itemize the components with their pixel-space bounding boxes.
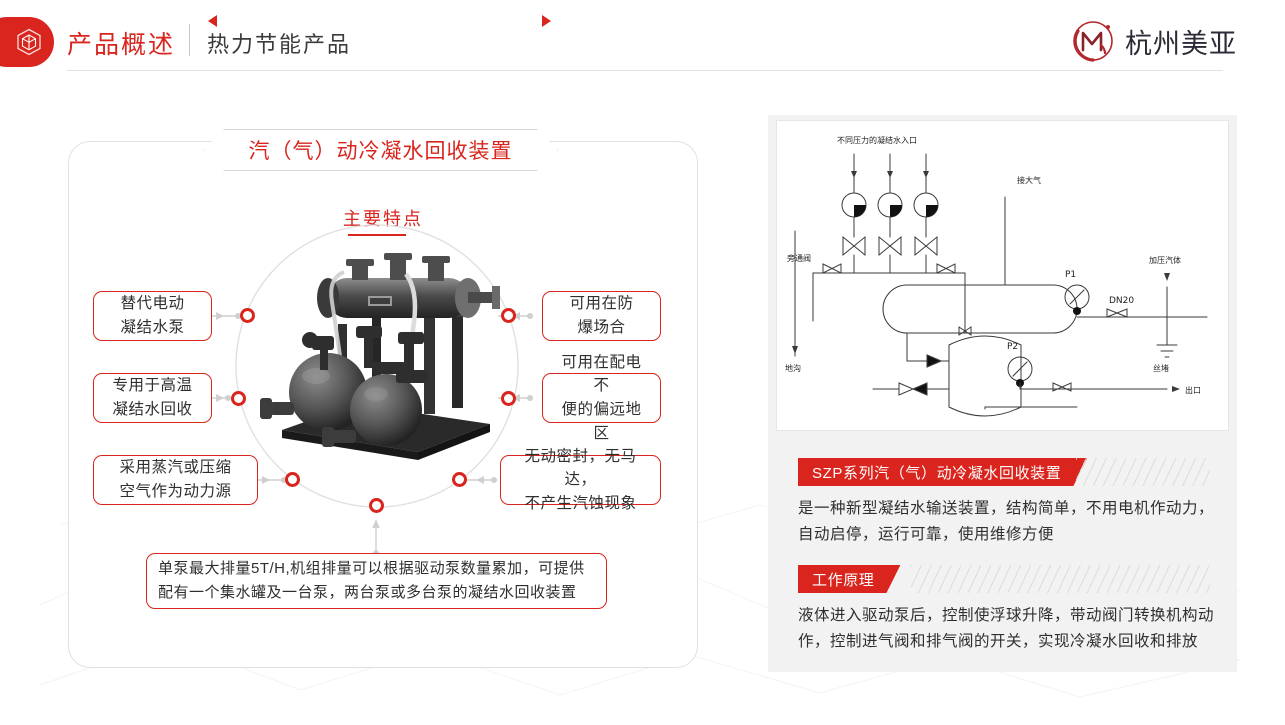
capacity-note-line2: 配有一个集水罐及一台泵，两台泵或多台泵的凝结水回收装置 [158,581,577,605]
section-principle-tag: 工作原理 [798,565,900,593]
features-heading: 主要特点 [0,205,766,231]
orbit-dot-5 [452,472,467,487]
page-header: 产品概述 热力节能产品 杭州美亚 [0,0,1285,84]
callout-remote-no-power[interactable]: 可用在配电不 便的偏远地区 [542,373,661,423]
callout-text: 可用在配电不 便的偏远地区 [554,351,649,445]
ribbon-right-arrow-icon [542,15,551,27]
callout-text: 无动密封，无马达， 不产生汽蚀现象 [512,445,649,516]
meiya-m-circle-logo [1070,18,1116,64]
callout-no-seal-no-motor[interactable]: 无动密封，无马达， 不产生汽蚀现象 [500,455,661,505]
label-outlet: 出口 [1185,385,1201,395]
section-principle-tag-row: 工作原理 [798,565,1210,593]
section-intro-line1: 是一种新型凝结水输送装置，结构简单，不用电机作动力， [798,496,1218,523]
callout-text: 专用于高温 凝结水回收 [112,374,192,421]
page-subtitle: 热力节能产品 [207,27,351,59]
logo-text: 杭州美亚 [1125,22,1237,61]
header-badge [0,17,54,67]
label-pressurized-gas: 加压汽体 [1149,255,1181,265]
label-bypass-valve: 旁通阀 [787,253,811,263]
callout-capacity-note[interactable]: 单泵最大排量5T/H,机组排量可以根据驱动泵数量累加，可提供 配有一个集水罐及一… [146,553,607,609]
orbit-dot-4 [501,308,516,323]
header-divider [189,24,190,56]
features-heading-underline [348,234,406,236]
orbit-dot-2 [231,391,246,406]
ribbon-title: 汽（气）动冷凝水回收装置 [249,135,513,165]
callout-text: 可用在防 爆场合 [569,292,633,339]
callout-explosion-proof[interactable]: 可用在防 爆场合 [542,291,661,341]
cube-hexagon-icon [16,28,42,56]
label-inlet: 不同压力的凝结水入口 [837,135,917,145]
label-to-atmosphere: 接大气 [1017,175,1041,185]
label-p1: P1 [1065,270,1076,280]
orbit-dot-6 [501,391,516,406]
orbit-dot-1 [240,308,255,323]
header-rule [67,70,1223,71]
label-plug: 丝堵 [1153,363,1169,373]
label-p2: P2 [1007,342,1018,352]
orbit-dot-3 [285,472,300,487]
callout-replace-electric-pump[interactable]: 替代电动 凝结水泵 [93,291,212,341]
ribbon-left-arrow-icon [208,15,217,27]
callout-steam-or-air-power[interactable]: 采用蒸汽或压缩 空气作为动力源 [93,455,258,505]
callout-text: 替代电动 凝结水泵 [120,292,184,339]
callout-text: 采用蒸汽或压缩 空气作为动力源 [119,456,231,503]
capacity-note-line1: 单泵最大排量5T/H,机组排量可以根据驱动泵数量累加，可提供 [158,557,585,581]
section-intro-line2: 自动启停，运行可靠，使用维修方便 [798,522,1218,549]
label-drain: 地沟 [785,363,801,373]
tag-hatch-decoration [1076,458,1210,486]
brand-logo: 杭州美亚 [1070,18,1237,64]
slide-root: 产品概述 热力节能产品 杭州美亚 汽（气）动冷凝水回收装置 主要特点 [0,0,1285,725]
section-intro-tag: SZP系列汽（气）动冷凝水回收装置 [798,458,1087,486]
product-photo [246,252,516,477]
section-principle-line1: 液体进入驱动泵后，控制使浮球升降，带动阀门转换机构动 [798,603,1223,630]
section-principle-line2: 作，控制进气阀和排气阀的开关，实现冷凝水回收和排放 [798,629,1223,656]
label-dn20: DN20 [1109,296,1134,306]
page-title: 产品概述 [67,25,175,61]
tag-hatch-decoration [911,565,1210,593]
callout-high-temp-condensate[interactable]: 专用于高温 凝结水回收 [93,373,212,423]
orbit-dot-7 [369,498,384,513]
section-intro-tag-row: SZP系列汽（气）动冷凝水回收装置 [798,458,1210,486]
section-ribbon: 汽（气）动冷凝水回收装置 [203,129,558,171]
schematic-diagram: 不同压力的凝结水入口 旁通阀 地沟 接大气 P1 DN20 加压汽体 丝堵 P2… [776,120,1229,431]
